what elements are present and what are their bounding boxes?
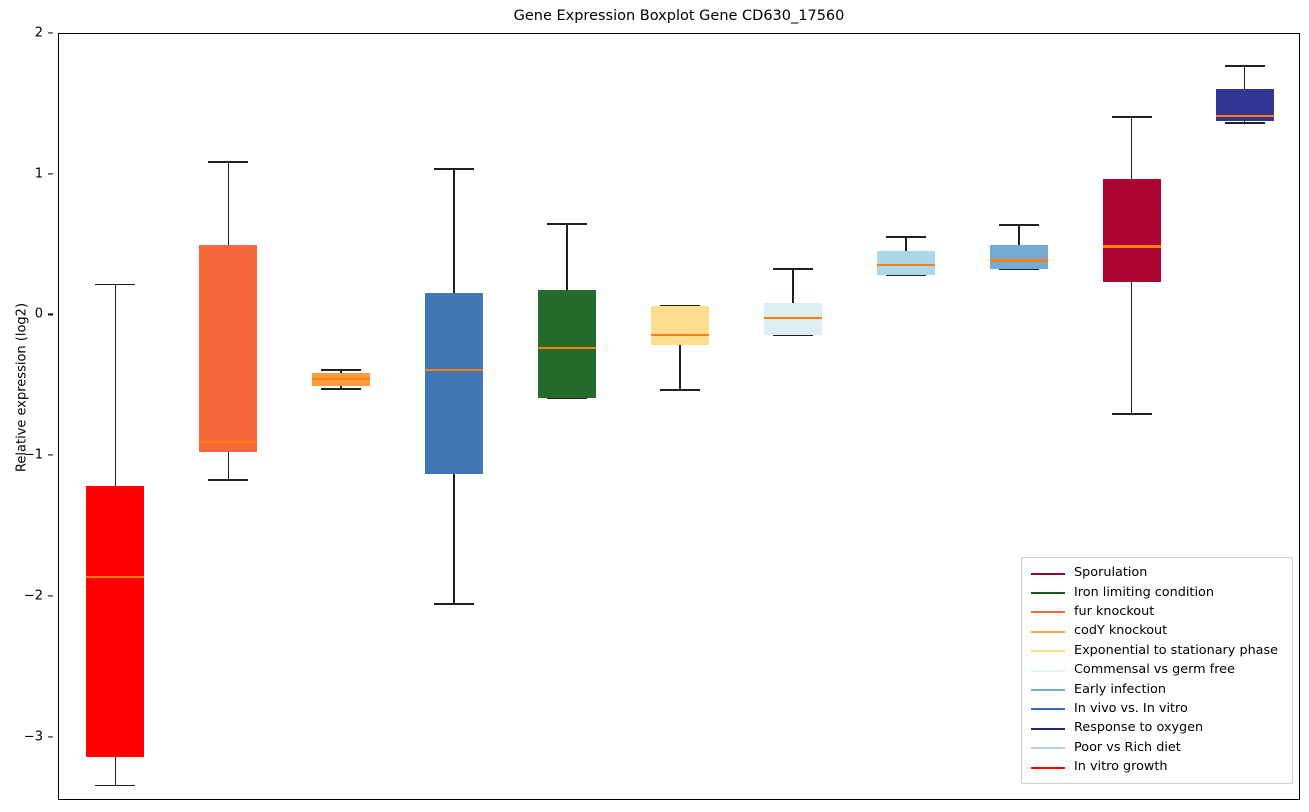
legend-color-swatch: [1031, 611, 1065, 613]
legend-color-swatch: [1031, 689, 1065, 691]
boxplot-box[interactable]: [877, 34, 935, 799]
boxplot-box[interactable]: [764, 34, 822, 799]
legend-item[interactable]: Sporulation: [1031, 564, 1283, 583]
y-tick-label: −3: [24, 729, 43, 744]
boxplot-box[interactable]: [538, 34, 596, 799]
y-tick-mark: [48, 595, 53, 596]
legend-label: codY knockout: [1074, 625, 1167, 638]
median-line: [651, 334, 709, 336]
median-line: [764, 317, 822, 319]
legend-label: In vivo vs. In vitro: [1074, 703, 1188, 716]
legend-label: Iron limiting condition: [1074, 587, 1214, 600]
legend-color-swatch: [1031, 670, 1065, 672]
cap-upper: [321, 369, 361, 371]
whisker-lower: [228, 452, 230, 480]
y-tick-label: 0: [35, 307, 43, 322]
legend-color-swatch: [1031, 650, 1065, 652]
boxplot-box[interactable]: [651, 34, 709, 799]
legend-color-swatch: [1031, 592, 1065, 594]
box-rect[interactable]: [990, 245, 1048, 269]
box-rect[interactable]: [538, 290, 596, 398]
whisker-lower: [453, 474, 455, 603]
cap-upper: [208, 161, 248, 163]
y-tick-mark: [48, 736, 53, 737]
box-rect[interactable]: [86, 486, 144, 758]
box-rect[interactable]: [425, 293, 483, 475]
cap-lower: [660, 389, 700, 391]
legend-label: Sporulation: [1074, 567, 1147, 580]
cap-lower: [95, 785, 135, 787]
legend-item[interactable]: Exponential to stationary phase: [1031, 642, 1283, 661]
boxplot-box[interactable]: [199, 34, 257, 799]
whisker-upper: [1244, 66, 1246, 89]
chart-title: Gene Expression Boxplot Gene CD630_17560: [58, 8, 1300, 24]
legend-item[interactable]: fur knockout: [1031, 603, 1283, 622]
legend-color-swatch: [1031, 708, 1065, 710]
legend-item[interactable]: codY knockout: [1031, 622, 1283, 641]
legend-color-swatch: [1031, 728, 1065, 730]
legend-label: fur knockout: [1074, 606, 1154, 619]
y-tick-label: 1: [35, 166, 43, 181]
cap-lower: [1112, 413, 1152, 415]
boxplot-box[interactable]: [86, 34, 144, 799]
y-tick-label: −1: [24, 448, 43, 463]
legend-label: Commensal vs germ free: [1074, 664, 1235, 677]
boxplot-box[interactable]: [425, 34, 483, 799]
whisker-upper: [566, 224, 568, 290]
legend-label: Early infection: [1074, 684, 1166, 697]
box-rect[interactable]: [651, 306, 709, 345]
cap-upper: [434, 168, 474, 170]
cap-lower: [1225, 122, 1265, 124]
legend-label: Poor vs Rich diet: [1074, 742, 1181, 755]
legend-item[interactable]: Commensal vs germ free: [1031, 661, 1283, 680]
median-line: [312, 378, 370, 380]
legend-label: Exponential to stationary phase: [1074, 645, 1278, 658]
legend-item[interactable]: Early infection: [1031, 680, 1283, 699]
cap-upper: [1112, 116, 1152, 118]
legend-label: In vitro growth: [1074, 761, 1168, 774]
median-line: [538, 347, 596, 349]
box-rect[interactable]: [1103, 179, 1161, 282]
median-line: [199, 441, 257, 443]
median-line: [1216, 115, 1274, 117]
y-tick-label: 2: [35, 26, 43, 41]
legend-item[interactable]: In vivo vs. In vitro: [1031, 700, 1283, 719]
legend-color-swatch: [1031, 747, 1065, 749]
whisker-upper: [228, 162, 230, 245]
legend-label: Response to oxygen: [1074, 722, 1203, 735]
median-line: [425, 369, 483, 371]
whisker-upper: [1018, 225, 1020, 245]
whisker-upper: [1131, 117, 1133, 179]
whisker-lower: [679, 345, 681, 390]
cap-lower: [208, 479, 248, 481]
legend-color-swatch: [1031, 573, 1065, 575]
y-tick-label: −2: [24, 588, 43, 603]
cap-upper: [547, 223, 587, 225]
cap-lower: [434, 603, 474, 605]
cap-upper: [1225, 65, 1265, 67]
median-line: [877, 264, 935, 266]
whisker-upper: [792, 269, 794, 303]
median-line: [86, 576, 144, 578]
legend-item[interactable]: In vitro growth: [1031, 758, 1283, 777]
cap-upper: [886, 236, 926, 238]
whisker-lower: [1131, 282, 1133, 414]
whisker-upper: [115, 285, 117, 486]
y-axis-ticks: 210−1−2−3: [0, 0, 58, 812]
whisker-upper: [905, 237, 907, 251]
legend-item[interactable]: Poor vs Rich diet: [1031, 739, 1283, 758]
whisker-lower: [115, 757, 117, 785]
legend-item[interactable]: Iron limiting condition: [1031, 583, 1283, 602]
cap-upper: [95, 284, 135, 286]
y-tick-mark: [48, 173, 53, 174]
whisker-upper: [453, 169, 455, 293]
median-line: [1103, 245, 1161, 247]
legend-item[interactable]: Response to oxygen: [1031, 719, 1283, 738]
box-rect[interactable]: [877, 251, 935, 275]
boxplot-box[interactable]: [312, 34, 370, 799]
median-line: [990, 259, 1048, 261]
y-tick-mark: [48, 32, 53, 33]
legend-color-swatch: [1031, 631, 1065, 633]
cap-lower: [321, 388, 361, 390]
figure-canvas: Gene Expression Boxplot Gene CD630_17560…: [0, 0, 1309, 812]
box-rect[interactable]: [199, 245, 257, 452]
y-tick-mark: [48, 455, 53, 456]
y-tick-mark: [48, 314, 53, 315]
cap-upper: [999, 224, 1039, 226]
chart-legend: SporulationIron limiting conditionfur kn…: [1021, 557, 1293, 784]
legend-color-swatch: [1031, 767, 1065, 769]
cap-upper: [773, 268, 813, 270]
